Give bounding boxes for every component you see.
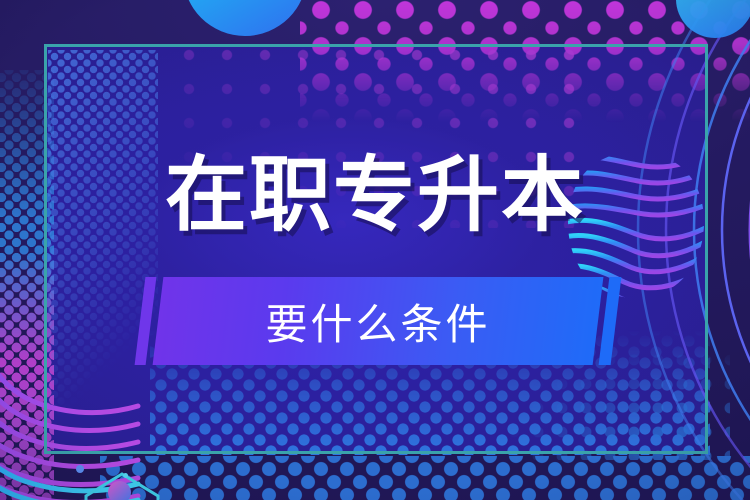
slanted-accent-bar-right (599, 277, 622, 365)
title-container: 在职专升本 (0, 155, 750, 237)
subtitle-text: 要什么条件 (158, 277, 598, 365)
page-title: 在职专升本 (165, 155, 585, 237)
dot-icon-small-blue (76, 465, 84, 473)
gradient-circle-icon-small (108, 481, 131, 500)
dot-icon-small-cyan (123, 473, 128, 478)
subtitle-banner: 要什么条件 (0, 277, 750, 365)
promotional-banner: 在职专升本 要什么条件 (0, 0, 750, 500)
